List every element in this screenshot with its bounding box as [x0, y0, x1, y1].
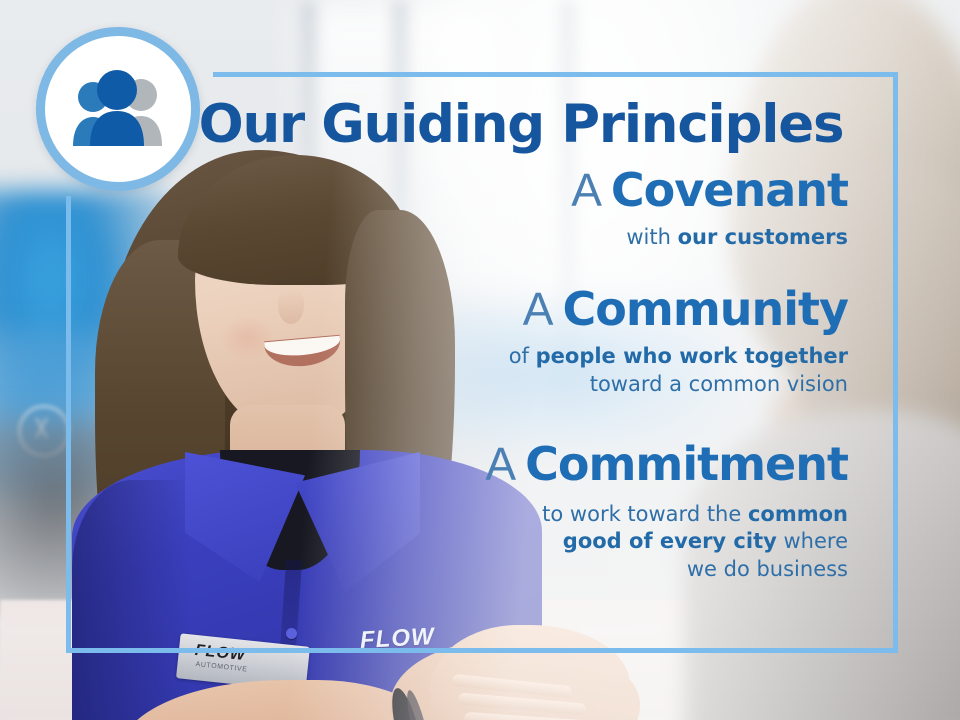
principle-block-commitment: A Commitment to work toward the common g… [180, 441, 870, 584]
principle-heading-covenant: A Covenant [180, 167, 848, 215]
principle-article: A [485, 438, 513, 490]
frame-border-top [213, 72, 898, 77]
subtext-run-bold: good of every city [563, 529, 777, 553]
principle-heading-community: A Community [180, 286, 848, 334]
principle-subtext-commitment: to work toward the common good of every … [180, 501, 848, 584]
principle-subtext-line: toward a common vision [180, 371, 848, 399]
principle-block-covenant: A Covenant with our customers [180, 167, 870, 252]
subtext-run-bold: common [748, 502, 848, 526]
subtext-run-bold: people who work together [536, 344, 848, 368]
principle-block-community: A Community of people who work together … [180, 286, 870, 399]
principle-keyword: Commitment [525, 437, 848, 491]
people-group-icon [62, 67, 174, 151]
subtext-run: of [509, 344, 536, 368]
frame-border-right [893, 72, 898, 653]
subtext-run: where [777, 529, 848, 553]
subtext-run: with [626, 225, 677, 249]
principle-subtext-line: good of every city where [180, 528, 848, 556]
subtext-run-bold: our customers [678, 225, 848, 249]
subtext-run: we do business [687, 557, 848, 581]
banner-canvas: FLOW FLOW AUTOMOTIVE [0, 0, 960, 720]
principle-subtext-line: we do business [180, 556, 848, 584]
page-title: Our Guiding Principles [180, 98, 862, 151]
subtext-run: toward a common vision [590, 372, 848, 396]
principle-keyword: Community [563, 282, 848, 336]
principle-heading-commitment: A Commitment [180, 441, 848, 489]
principle-article: A [571, 164, 599, 216]
text-content: Our Guiding Principles A Covenant with o… [180, 80, 870, 640]
principle-subtext-community: of people who work together toward a com… [180, 343, 848, 398]
principle-subtext-line: with our customers [180, 224, 848, 252]
principle-subtext-line: of people who work together [180, 343, 848, 371]
principle-article: A [523, 283, 551, 335]
principle-keyword: Covenant [611, 163, 848, 217]
people-badge [36, 27, 200, 191]
frame-border-bottom [66, 648, 898, 653]
principle-subtext-line: to work toward the common [180, 501, 848, 529]
frame-border-left [66, 196, 71, 653]
principle-subtext-covenant: with our customers [180, 224, 848, 252]
subtext-run: to work toward the [542, 502, 748, 526]
